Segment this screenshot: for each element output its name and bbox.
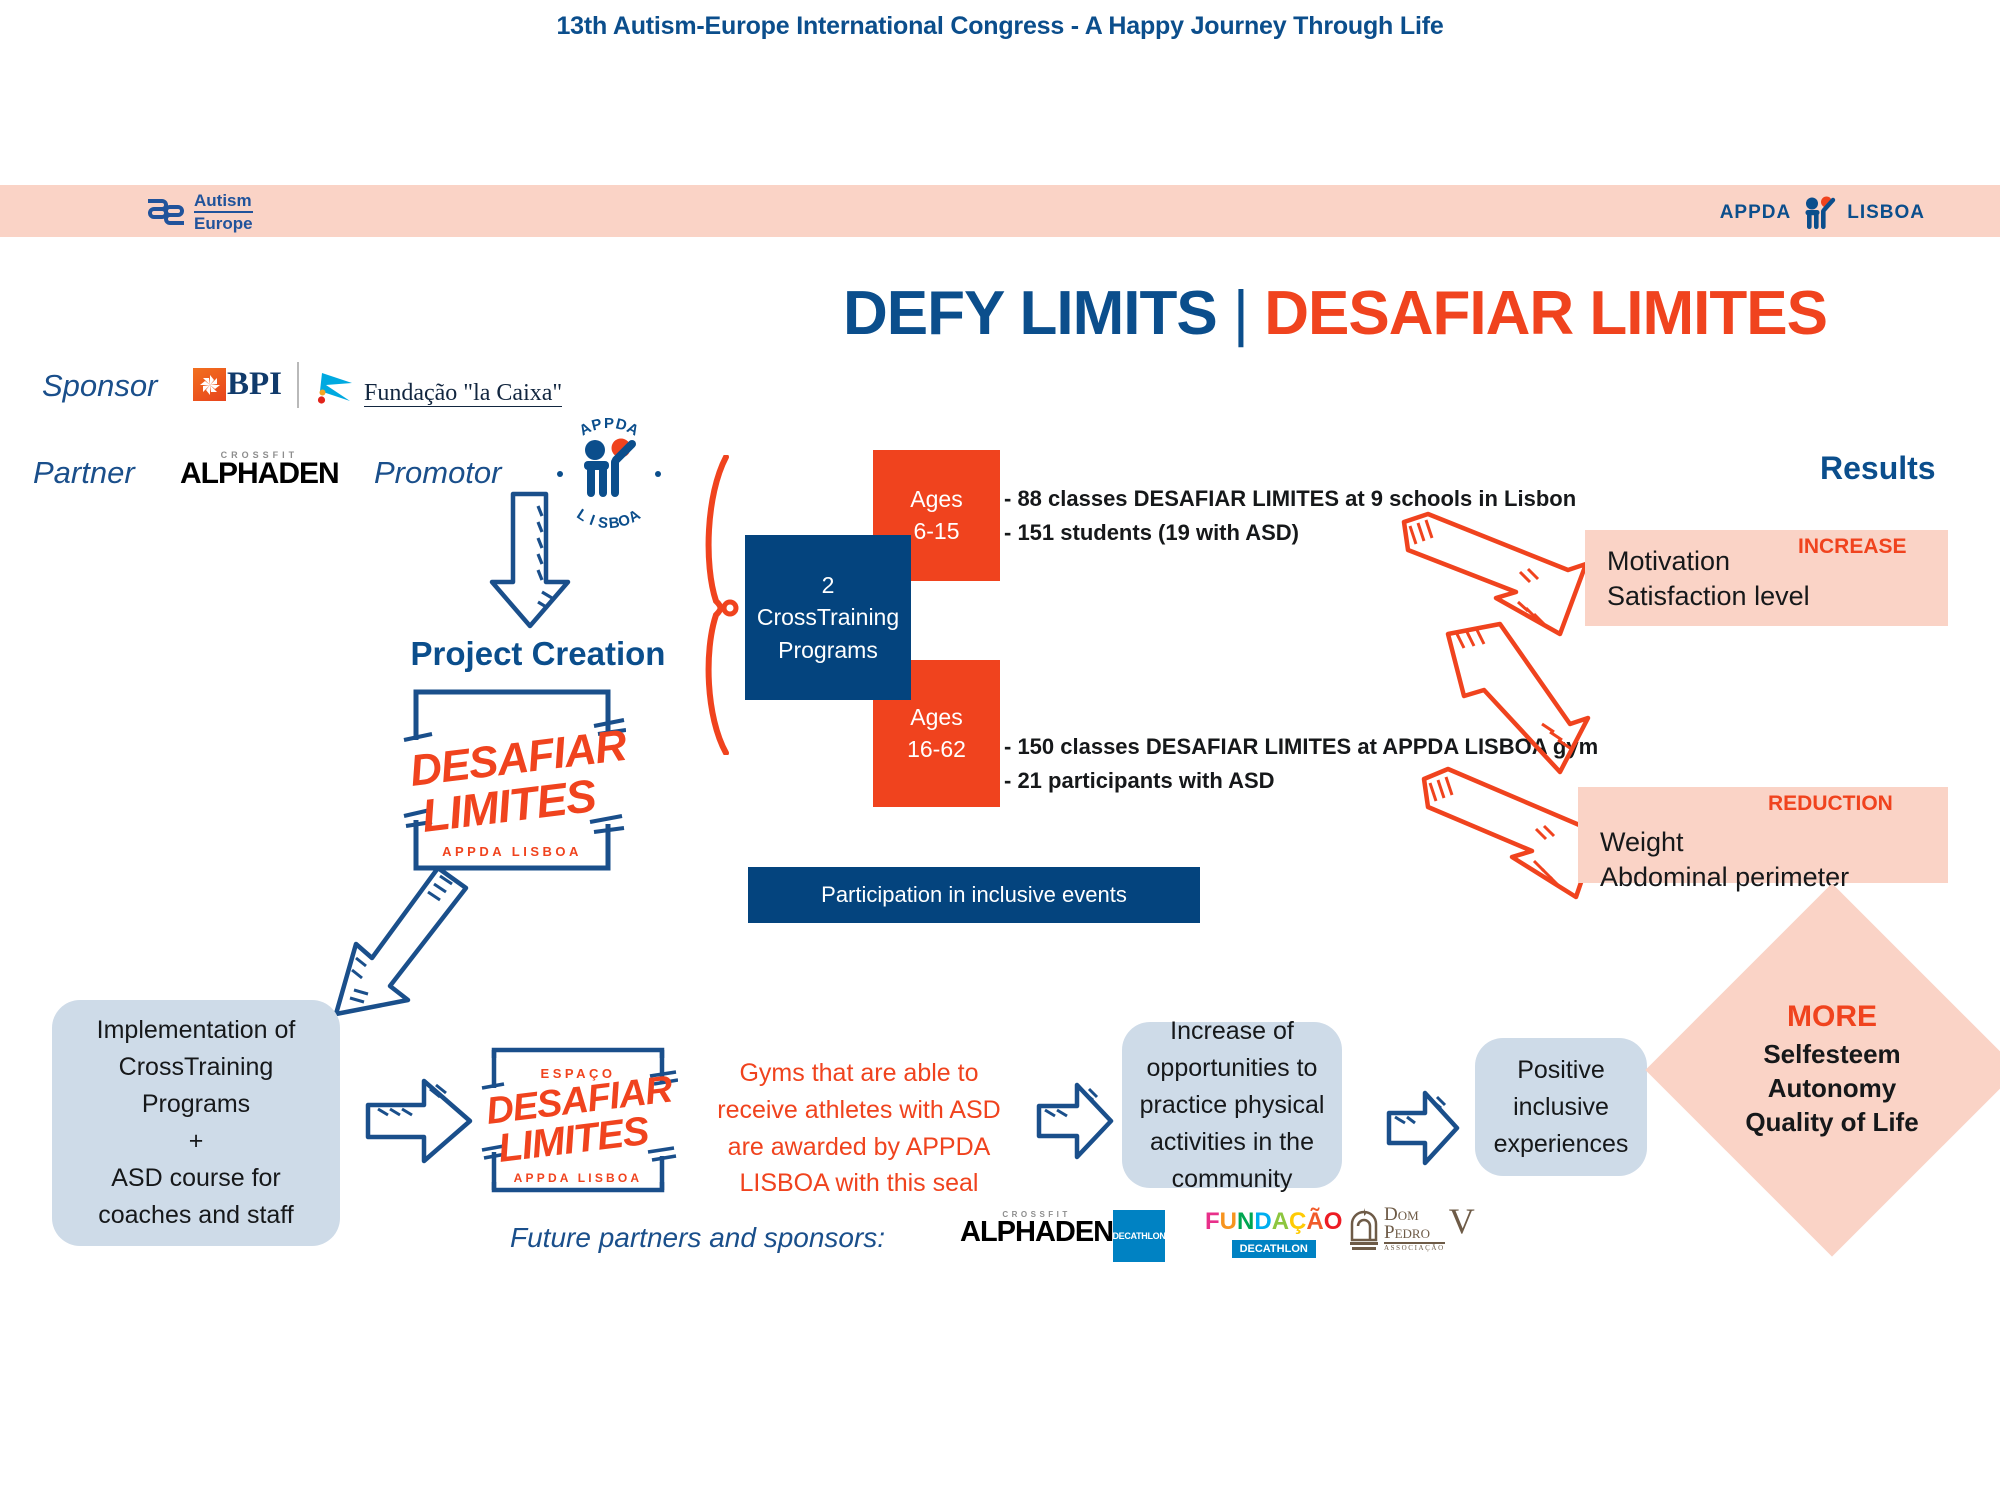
age-group-2-range: 16-62 [907, 734, 966, 765]
svg-text:B: B [608, 514, 621, 532]
autism-europe-line1: Autism [194, 192, 253, 209]
alphaden-wordmark: ALPHADEN [180, 460, 339, 489]
impl-line-3: Programs [142, 1086, 250, 1123]
header-bar [0, 185, 2000, 237]
svg-text:P: P [604, 415, 614, 432]
result-reduction-line1: Weight [1600, 825, 1926, 860]
espaco-desafiar-limites-logo: ESPAÇO DESAFIAR LIMITES APPDA LISBOA [478, 1040, 678, 1200]
inclusive-events-box: Participation in inclusive events [748, 867, 1200, 923]
arrow-to-implementation-icon [320, 862, 480, 1022]
partner-label: Partner [33, 455, 135, 491]
age-group-2-label: Ages [910, 702, 962, 733]
implementation-box: Implementation of CrossTraining Programs… [52, 1000, 340, 1246]
result-increase-line2: Satisfaction level [1607, 579, 1926, 614]
inc-line-5: community [1172, 1161, 1293, 1198]
la-caixa-logo: Fundação "la Caixa" [316, 367, 562, 407]
future-logo-decathlon: DECATHLON [1113, 1210, 1165, 1262]
desafiar-limites-logo: DESAFIAR LIMITES APPDA LISBOA [398, 680, 626, 880]
future-logo-fundacao-decathlon: FUNDAÇÃO DECATHLON [1205, 1208, 1342, 1258]
flow-arrow-2-icon [1035, 1080, 1115, 1162]
dom-pedro-names: DOM PEDRO ASSOCIAÇÃO [1384, 1206, 1445, 1252]
flow-arrow-1-icon [364, 1075, 474, 1167]
arrow-down-to-project-icon [480, 490, 585, 635]
bpi-logo: BPI [193, 368, 282, 401]
sponsor-label: Sponsor [42, 368, 157, 404]
more-item-3: Quality of Life [1745, 1106, 1918, 1140]
pos-line-2: inclusive [1513, 1089, 1609, 1126]
future-logo-dom-pedro-v: DOM PEDRO ASSOCIAÇÃO V [1348, 1206, 1475, 1252]
crosstraining-line2: CrossTraining [757, 601, 899, 634]
impl-line-1: Implementation of [97, 1012, 296, 1049]
inc-line-4: activities in the [1150, 1124, 1314, 1161]
dom-pedro-v-mark: V [1449, 1206, 1475, 1237]
autism-europe-mark-icon [145, 197, 187, 227]
increase-opportunities-box: Increase of opportunities to practice ph… [1122, 1022, 1342, 1188]
promotor-label: Promotor [374, 455, 501, 491]
age-group-1-range: 6-15 [913, 516, 959, 547]
appda-header-left: APPDA [1720, 202, 1792, 224]
inc-line-1: Increase of [1170, 1013, 1294, 1050]
la-caixa-star-icon [316, 367, 358, 407]
more-item-1: Selfesteem [1763, 1038, 1900, 1072]
impl-line-5: ASD course for [111, 1160, 281, 1197]
bpi-flower-icon [198, 373, 222, 397]
positive-experiences-box: Positive inclusive experiences [1475, 1038, 1647, 1176]
la-caixa-wordmark: Fundação "la Caixa" [364, 381, 562, 407]
dom-pedro-row3: ASSOCIAÇÃO [1384, 1242, 1445, 1252]
future-logo-alphaden: CROSSFIT ALPHADEN [960, 1210, 1113, 1247]
impl-line-4: + [189, 1123, 204, 1160]
autism-europe-rule [194, 211, 253, 213]
inc-line-3: practice physical [1140, 1087, 1325, 1124]
fp-fundacao-name: FUNDAÇÃO [1205, 1208, 1342, 1236]
poster-canvas: 13th Autism-Europe International Congres… [0, 0, 2000, 1500]
orange-brace-icon [698, 455, 744, 755]
gyms-line-1: Gyms that are able to [700, 1055, 1018, 1092]
gyms-award-text: Gyms that are able to receive athletes w… [700, 1055, 1018, 1202]
pos-line-3: experiences [1494, 1126, 1629, 1163]
dl-logo-subtitle: APPDA LISBOA [442, 844, 582, 859]
fp-decathlon-name: DECATHLON [1112, 1231, 1165, 1241]
inc-line-2: opportunities to [1147, 1050, 1318, 1087]
title-english: DEFY LIMITS [843, 279, 1217, 348]
reduction-tag: REDUCTION [1768, 792, 1893, 816]
result-reduction-line2: Abdominal perimeter [1600, 860, 1926, 895]
page-title: DEFY LIMITS | DESAFIAR LIMITES [700, 278, 1970, 349]
crosstraining-line3: Programs [778, 634, 878, 667]
autism-europe-logo: Autism Europe [145, 192, 253, 232]
fp-alphaden-name: ALPHADEN [960, 1219, 1113, 1247]
impl-line-2: CrossTraining [119, 1049, 274, 1086]
pos-line-1: Positive [1517, 1052, 1605, 1089]
more-item-2: Autonomy [1768, 1072, 1897, 1106]
results-heading: Results [1820, 450, 1936, 487]
title-portuguese: DESAFIAR LIMITES [1264, 279, 1827, 348]
project-creation-label: Project Creation [378, 635, 698, 673]
gyms-line-3: are awarded by APPDA [700, 1129, 1018, 1166]
gyms-line-2: receive athletes with ASD [700, 1092, 1018, 1129]
age-group-1-label: Ages [910, 484, 962, 515]
appda-people-icon [1799, 196, 1839, 230]
svg-text:S: S [597, 514, 609, 532]
impl-line-6: coaches and staff [98, 1197, 294, 1234]
future-partners-label: Future partners and sponsors: [510, 1222, 885, 1254]
title-separator: | [1233, 279, 1248, 348]
crosstraining-count: 2 [822, 569, 835, 602]
more-keyword: MORE [1787, 1000, 1877, 1034]
alphaden-logo: CROSSFIT ALPHADEN [180, 450, 339, 489]
autism-europe-line2: Europe [194, 215, 253, 232]
appda-header-right: LISBOA [1847, 202, 1925, 224]
bpi-mark-icon [193, 368, 226, 401]
results-arrow-2-icon [1430, 620, 1600, 780]
flow-arrow-3-icon [1385, 1088, 1461, 1168]
congress-title: 13th Autism-Europe International Congres… [0, 0, 2000, 52]
svg-text:I: I [587, 512, 597, 529]
dl2-logo-subtitle: APPDA LISBOA [514, 1171, 643, 1185]
gyms-line-4: LISBOA with this seal [700, 1165, 1018, 1202]
increase-tag: INCREASE [1798, 535, 1907, 559]
more-outcomes: MORE Selfesteem Autonomy Quality of Life [1700, 938, 1964, 1202]
appda-lisboa-header-logo: APPDA LISBOA [1720, 196, 1925, 230]
crosstraining-programs-box: 2 CrossTraining Programs [745, 535, 911, 700]
fp-fundacao-sub: DECATHLON [1232, 1240, 1316, 1258]
sponsor-divider [297, 362, 299, 408]
bpi-wordmark: BPI [227, 368, 282, 401]
dom-pedro-row2: PEDRO [1384, 1224, 1445, 1242]
dom-pedro-crest-icon [1348, 1206, 1380, 1252]
